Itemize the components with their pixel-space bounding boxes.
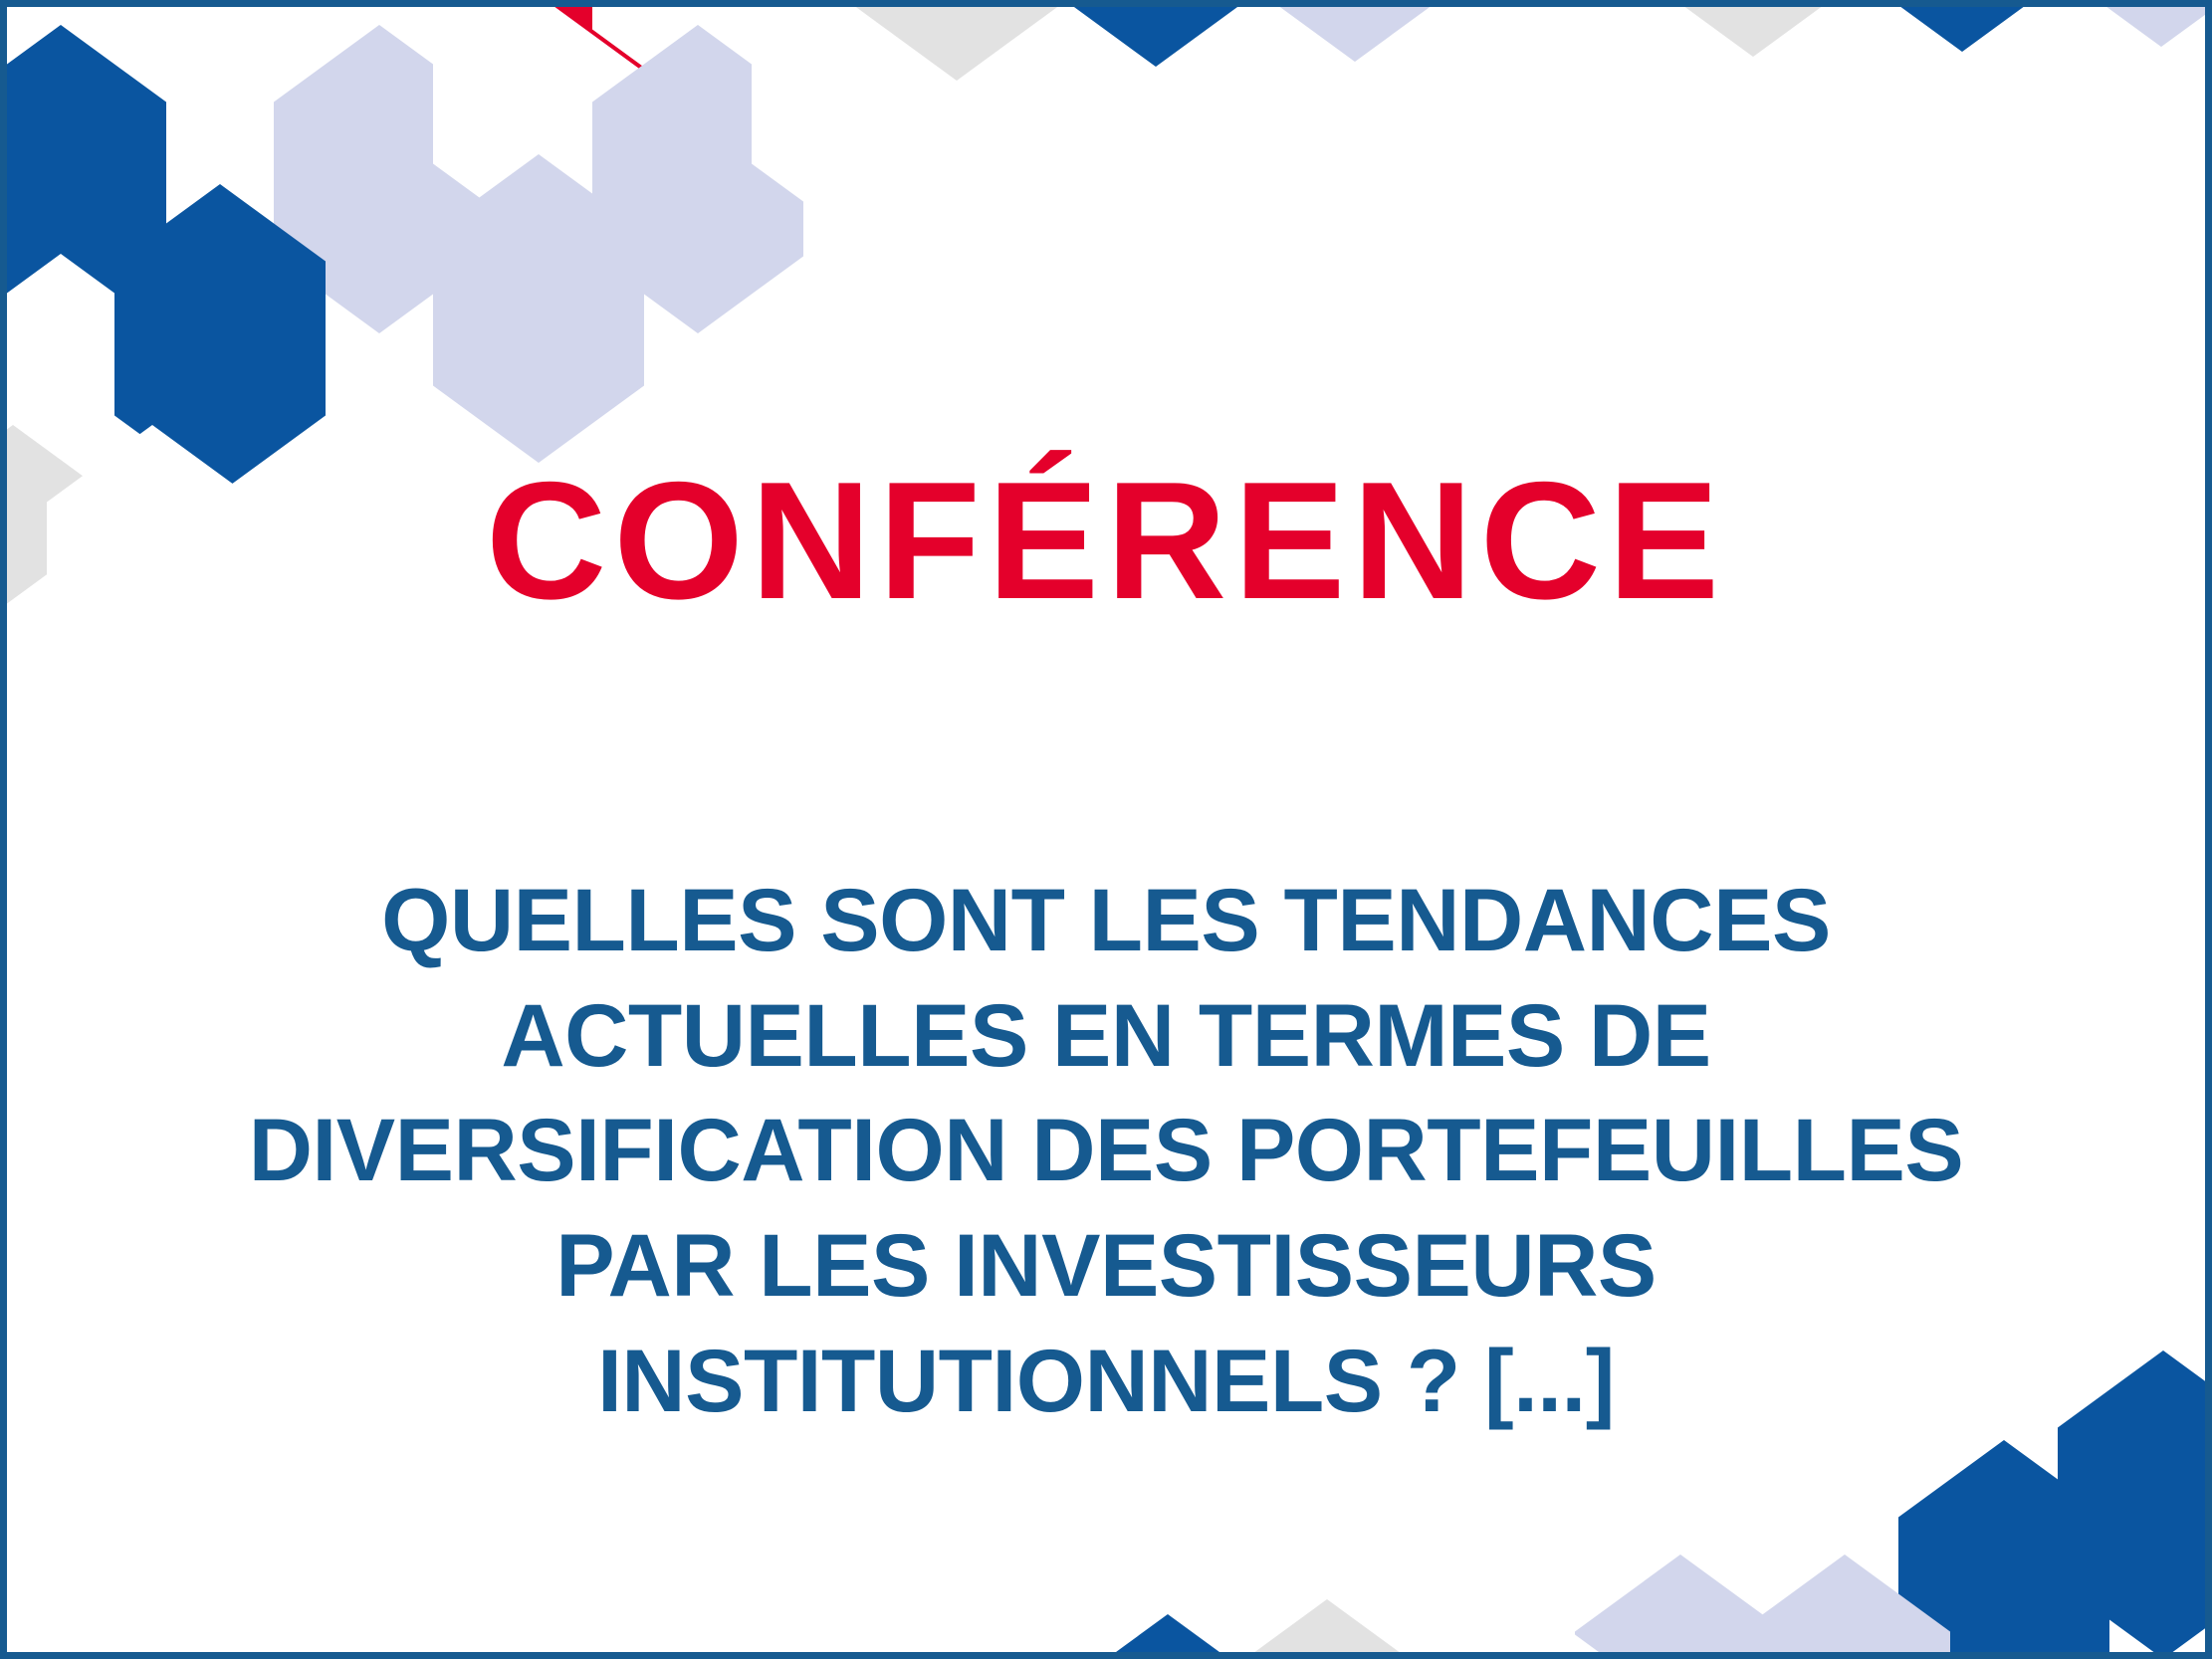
slide-content: CONFÉRENCE QUELLES SONT LES TENDANCES AC… [7, 7, 2205, 1652]
page-title: CONFÉRENCE [7, 457, 2205, 624]
subtitle-line-1: QUELLES SONT LES TENDANCES [7, 863, 2205, 978]
conference-slide: CONFÉRENCE QUELLES SONT LES TENDANCES AC… [0, 0, 2212, 1659]
subtitle-line-5: INSTITUTIONNELS ? [...] [7, 1324, 2205, 1439]
subtitle-line-3: DIVERSIFICATION DES PORTEFEUILLES [7, 1093, 2205, 1208]
subtitle-line-4: PAR LES INVESTISSEURS [7, 1208, 2205, 1324]
conference-subtitle: QUELLES SONT LES TENDANCES ACTUELLES EN … [7, 863, 2205, 1438]
subtitle-line-2: ACTUELLES EN TERMES DE [7, 978, 2205, 1094]
